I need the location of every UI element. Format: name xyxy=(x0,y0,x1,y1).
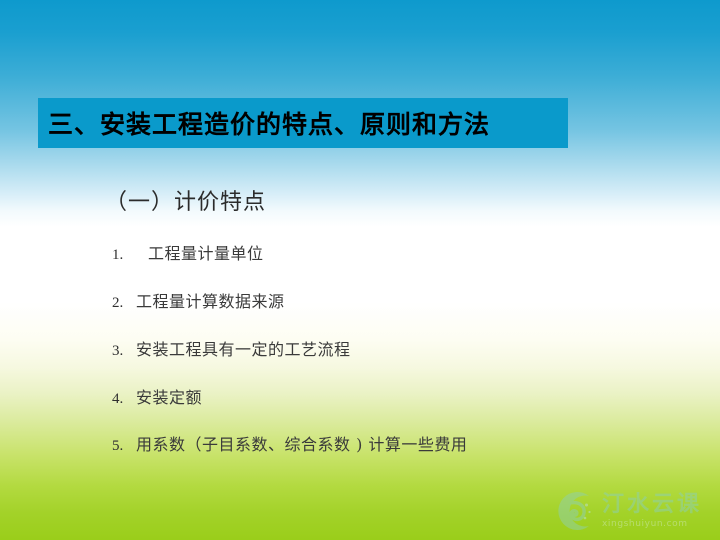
presentation-slide: 三、安装工程造价的特点、原则和方法 （一）计价特点 1. 工程量计量单位 2. … xyxy=(0,0,720,540)
list-item-number: 4. xyxy=(112,391,136,408)
list-item: 2. 工程量计算数据来源 xyxy=(112,288,285,312)
list-item: 4. 安装定额 xyxy=(112,384,202,408)
list-item: 3. 安装工程具有一定的工艺流程 xyxy=(112,336,351,360)
list-item: 1. 工程量计量单位 xyxy=(112,240,264,264)
list-item-number: 5. xyxy=(112,438,136,455)
list-item: 5. 用系数（子目系数、综合系数 ) 计算一些费用 xyxy=(112,431,467,455)
list-item-label: 用系数（子目系数、综合系数 ) 计算一些费用 xyxy=(136,431,467,455)
list-item-label: 安装工程具有一定的工艺流程 xyxy=(136,336,351,360)
list-item-label: 工程量计算数据来源 xyxy=(136,288,285,312)
list-item-label: 工程量计量单位 xyxy=(136,240,264,264)
list-item-label: 安装定额 xyxy=(136,384,202,408)
list-item-number: 3. xyxy=(112,343,136,360)
list-item-number: 1. xyxy=(112,247,136,264)
list-item-number: 2. xyxy=(112,295,136,312)
section-subtitle: （一）计价特点 xyxy=(105,184,266,216)
slide-body: （一）计价特点 1. 工程量计量单位 2. 工程量计算数据来源 3. 安装工程具… xyxy=(0,0,720,540)
